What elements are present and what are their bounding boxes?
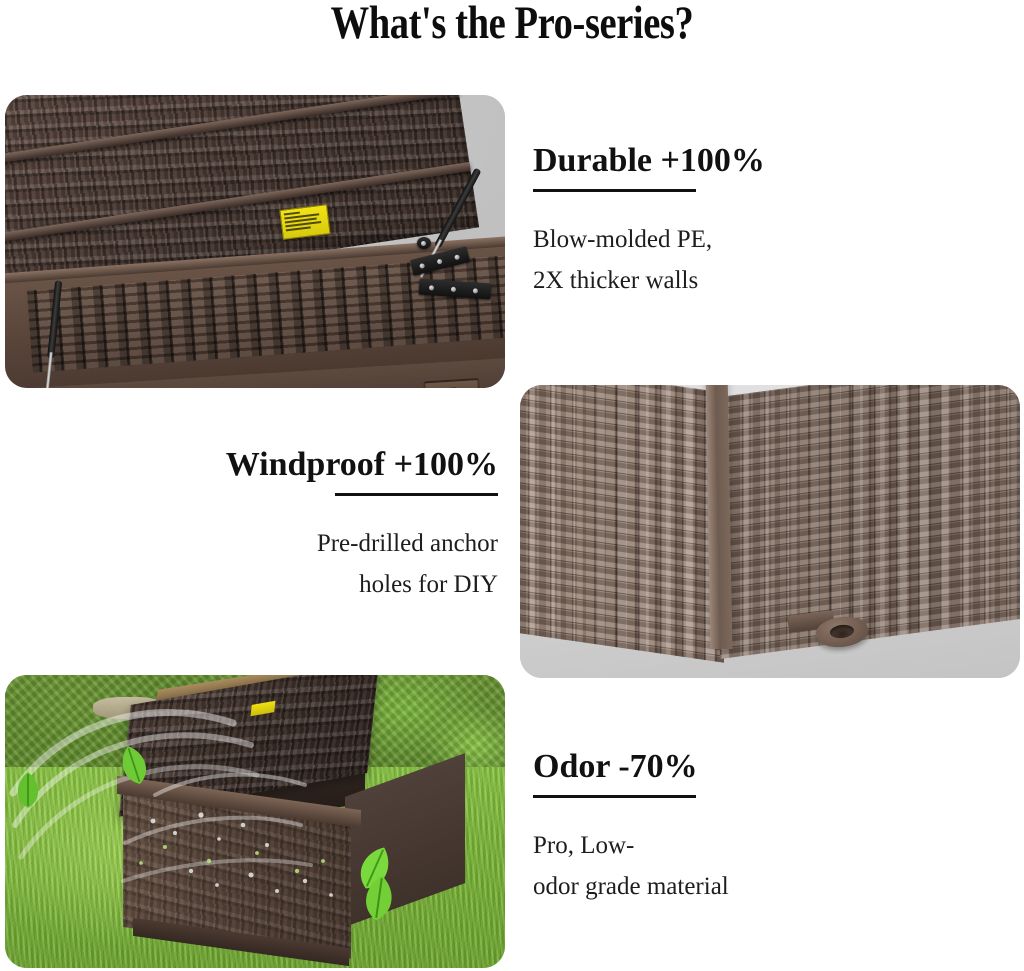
heading-underline (335, 493, 498, 496)
feature-body: Pre-drilled anchor holes for DIY (190, 523, 498, 605)
feature-durable: Durable +100% Blow-molded PE, 2X thicker… (533, 142, 765, 301)
photo-garden-airflow (5, 675, 505, 968)
wicker-panel-right (720, 385, 1020, 659)
feature-body-line: Pro, Low- (533, 825, 729, 866)
feature-body-line: Blow-molded PE, (533, 219, 765, 260)
feature-body-line: 2X thicker walls (533, 260, 765, 301)
heading-underline (533, 189, 696, 192)
label-text-line (286, 226, 311, 231)
corner-edge-post (706, 385, 733, 649)
box-latch (423, 378, 481, 388)
warning-label-sticker (279, 204, 330, 240)
page-title: What's the Pro-series? (92, 0, 932, 50)
photo-open-lid-struts (5, 95, 505, 388)
feature-body: Blow-molded PE, 2X thicker walls (533, 219, 765, 301)
feature-body-line: holes for DIY (190, 564, 498, 605)
feature-body-line: Pre-drilled anchor (190, 523, 498, 564)
feature-heading: Odor -70% (533, 748, 729, 786)
feature-body: Pro, Low- odor grade material (533, 825, 729, 907)
feature-heading: Durable +100% (533, 142, 765, 180)
feature-heading: Windproof +100% (190, 446, 498, 484)
feature-body-line: odor grade material (533, 866, 729, 907)
photo-wicker-corner-anchor (520, 385, 1020, 678)
wicker-panel-left (520, 385, 724, 663)
infographic-page: What's the Pro-series? (0, 0, 1024, 971)
feature-windproof: Windproof +100% Pre-drilled anchor holes… (190, 446, 498, 605)
leaf-icon (354, 870, 405, 926)
heading-underline (533, 795, 696, 798)
strut-pivot-top (417, 237, 431, 249)
leaf-icon (11, 770, 45, 810)
feature-odor: Odor -70% Pro, Low- odor grade material (533, 748, 729, 907)
